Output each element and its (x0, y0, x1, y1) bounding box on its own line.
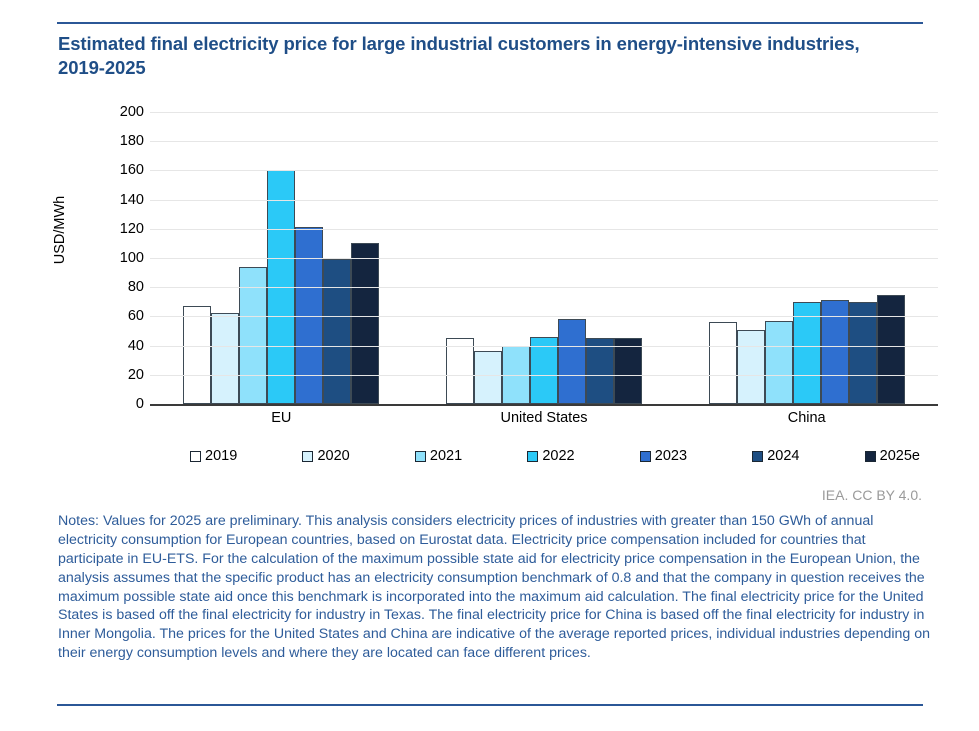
gridline (150, 112, 938, 113)
legend-item-2020[interactable]: 2020 (302, 448, 349, 464)
plot-canvas (150, 112, 938, 406)
y-axis-tick-label: 100 (88, 250, 144, 266)
y-axis-tick-label: 60 (88, 308, 144, 324)
legend-item-2025e[interactable]: 2025e (865, 448, 920, 464)
x-axis-tick-label: China (675, 410, 938, 426)
y-axis-tick-label: 20 (88, 367, 144, 383)
y-axis-tick-label: 40 (88, 338, 144, 354)
x-axis-labels: EUUnited StatesChina (150, 410, 938, 426)
legend-item-2024[interactable]: 2024 (752, 448, 799, 464)
gridline (150, 258, 938, 259)
y-axis-tick-label: 80 (88, 279, 144, 295)
legend-swatch-icon (527, 451, 538, 462)
credit-text: IEA. CC BY 4.0. (822, 487, 922, 503)
bar-eu-2020[interactable] (211, 313, 239, 404)
gridline (150, 200, 938, 201)
gridline (150, 316, 938, 317)
bar-united-states-2020[interactable] (474, 351, 502, 404)
bar-united-states-2023[interactable] (558, 319, 586, 404)
legend-item-label: 2020 (317, 448, 349, 464)
y-axis-tick-label: 160 (88, 162, 144, 178)
bar-united-states-2024[interactable] (586, 338, 614, 404)
notes-text: Notes: Values for 2025 are preliminary. … (58, 512, 930, 663)
chart-page: Estimated final electricity price for la… (0, 0, 979, 731)
gridline (150, 346, 938, 347)
y-axis-tick-label: 180 (88, 133, 144, 149)
gridline (150, 375, 938, 376)
legend-item-2022[interactable]: 2022 (527, 448, 574, 464)
bar-china-2019[interactable] (709, 322, 737, 404)
gridline (150, 229, 938, 230)
legend-swatch-icon (640, 451, 651, 462)
legend-item-2021[interactable]: 2021 (415, 448, 462, 464)
x-axis-tick-label: United States (413, 410, 676, 426)
legend-item-2023[interactable]: 2023 (640, 448, 687, 464)
legend-swatch-icon (752, 451, 763, 462)
bar-china-2021[interactable] (765, 321, 793, 404)
plot-area-wrapper: USD/MWh 200180160140120100806040200 EUUn… (0, 96, 979, 446)
bar-china-2020[interactable] (737, 330, 765, 404)
bar-united-states-2019[interactable] (446, 338, 474, 404)
bar-united-states-2025e[interactable] (614, 338, 642, 404)
gridline (150, 170, 938, 171)
bar-united-states-2022[interactable] (530, 337, 558, 404)
y-axis-tick-label: 120 (88, 221, 144, 237)
y-axis-tick-label: 0 (88, 396, 144, 412)
y-axis-tick-label: 140 (88, 192, 144, 208)
chart-legend: 2019202020212022202320242025e (150, 448, 920, 464)
gridline (150, 141, 938, 142)
legend-item-label: 2021 (430, 448, 462, 464)
y-axis-tick-label: 200 (88, 104, 144, 120)
legend-swatch-icon (190, 451, 201, 462)
gridline (150, 287, 938, 288)
bar-eu-2019[interactable] (183, 306, 211, 404)
legend-swatch-icon (415, 451, 426, 462)
x-axis-tick-label: EU (150, 410, 413, 426)
legend-swatch-icon (865, 451, 876, 462)
y-axis-ticks: 200180160140120100806040200 (88, 96, 144, 404)
top-divider-rule (57, 22, 923, 24)
legend-item-label: 2019 (205, 448, 237, 464)
bar-eu-2024[interactable] (323, 259, 351, 404)
legend-item-label: 2023 (655, 448, 687, 464)
page-title: Estimated final electricity price for la… (58, 32, 898, 80)
bottom-divider-rule (57, 704, 923, 706)
bar-china-2025e[interactable] (877, 295, 905, 404)
y-axis-label: USD/MWh (52, 165, 68, 295)
legend-item-2019[interactable]: 2019 (190, 448, 237, 464)
bar-eu-2025e[interactable] (351, 243, 379, 404)
legend-item-label: 2022 (542, 448, 574, 464)
legend-item-label: 2024 (767, 448, 799, 464)
legend-swatch-icon (302, 451, 313, 462)
legend-item-label: 2025e (880, 448, 920, 464)
